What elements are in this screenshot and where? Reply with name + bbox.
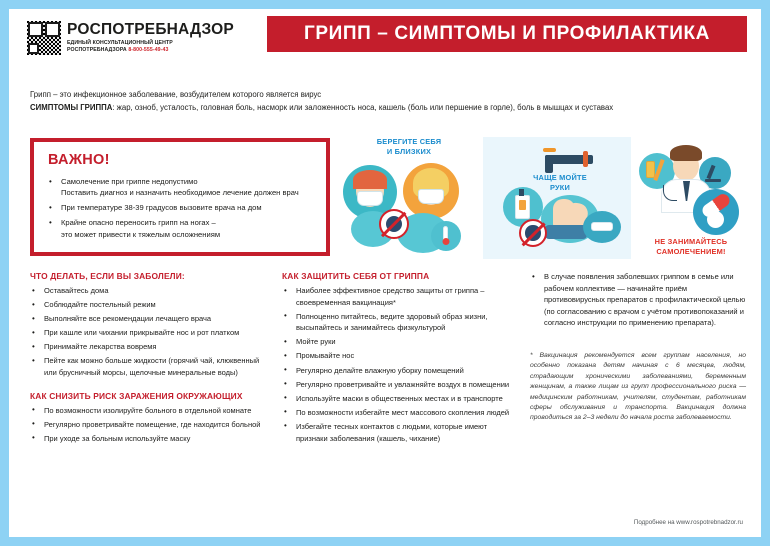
list-item: По возможности избегайте мест массового … <box>282 407 520 419</box>
no-virus-icon <box>519 219 547 247</box>
list-item: Крайне опасно переносить грипп на ногах … <box>48 217 314 240</box>
section-title-reduce-risk: КАК СНИЗИТЬ РИСК ЗАРАЖЕНИЯ ОКРУЖАЮЩИХ <box>30 391 270 401</box>
list-item: Полноценно питайтесь, ведите здоровый об… <box>282 311 520 334</box>
section-title-how-to-protect: КАК ЗАЩИТИТЬ СЕБЯ ОТ ГРИППА <box>282 271 520 281</box>
no-virus-icon <box>379 209 409 239</box>
how-to-protect-list: Наиболее эффективное средство защиты от … <box>282 285 520 444</box>
bottle-label <box>519 200 526 210</box>
list-item: Промывайте нос <box>282 350 520 362</box>
important-heading: ВАЖНО! <box>48 152 314 168</box>
column-how-to-protect: КАК ЗАЩИТИТЬ СЕБЯ ОТ ГРИППА Наиболее эфф… <box>282 271 520 456</box>
illustration-protect-yourself: БЕРЕГИТЕ СЕБЯИ БЛИЗКИХ <box>339 137 479 259</box>
list-item: Соблюдайте постельный режим <box>30 299 270 311</box>
list-item: Оставайтесь дома <box>30 285 270 297</box>
important-item-text: Самолечение при гриппе недопустимоПостав… <box>61 177 299 197</box>
faucet-handle <box>583 151 588 167</box>
list-item: Наиболее эффективное средство защиты от … <box>282 285 520 308</box>
face-mask-left <box>357 191 383 206</box>
panel-c-caption: НЕ ЗАНИМАЙТЕСЬСАМОЛЕЧЕНИЕМ! <box>633 237 749 256</box>
header: РОСПОТРЕБНАДЗОР ЕДИНЫЙ КОНСУЛЬТАЦИОННЫЙ … <box>9 9 761 71</box>
list-item: Пейте как можно больше жидкости (горячий… <box>30 355 270 378</box>
list-item: Используйте маски в общественных местах … <box>282 393 520 405</box>
important-box: ВАЖНО! Самолечение при гриппе недопустим… <box>30 138 330 256</box>
page-title: ГРИПП – СИМПТОМЫ И ПРОФИЛАКТИКА <box>304 23 710 45</box>
what-to-do-list: Оставайтесь дома Соблюдайте постельный р… <box>30 285 270 379</box>
important-item-text: Крайне опасно переносить грипп на ногах … <box>61 218 220 238</box>
intro-text: Грипп – это инфекционное заболевание, во… <box>30 88 745 114</box>
panel-a-caption: БЕРЕГИТЕ СЕБЯИ БЛИЗКИХ <box>339 137 479 156</box>
list-item: Регулярно проветривайте и увлажняйте воз… <box>282 379 520 391</box>
intro-line-2: СИМПТОМЫ ГРИППА: жар, озноб, усталость, … <box>30 101 745 114</box>
column-antiviral-advice: В случае появления заболевших гриппом в … <box>530 271 746 424</box>
list-item: Избегайте тесных контактов с людьми, кот… <box>282 421 520 444</box>
symptoms-label: СИМПТОМЫ ГРИППА <box>30 103 112 112</box>
antiviral-list: В случае появления заболевших гриппом в … <box>530 271 746 329</box>
title-banner: ГРИПП – СИМПТОМЫ И ПРОФИЛАКТИКА <box>267 16 747 52</box>
doctor-hair <box>670 145 702 161</box>
list-item: При уходе за больным используйте маску <box>30 433 270 445</box>
intro-line-1: Грипп – это инфекционное заболевание, во… <box>30 88 745 101</box>
column-what-to-do: ЧТО ДЕЛАТЬ, ЕСЛИ ВЫ ЗАБОЛЕЛИ: Оставайтес… <box>30 271 270 456</box>
list-item: Регулярно делайте влажную уборку помещен… <box>282 365 520 377</box>
list-item: Самолечение при гриппе недопустимоПостав… <box>48 176 314 199</box>
section-title-what-to-do: ЧТО ДЕЛАТЬ, ЕСЛИ ВЫ ЗАБОЛЕЛИ: <box>30 271 270 281</box>
list-item: Мойте руки <box>282 336 520 348</box>
logo-text: РОСПОТРЕБНАДЗОР ЕДИНЫЙ КОНСУЛЬТАЦИОННЫЙ … <box>67 21 234 54</box>
reduce-risk-list: По возможности изолируйте больного в отд… <box>30 405 270 445</box>
important-item-text: При температуре 38-39 градусов вызовите … <box>61 203 262 212</box>
tablet-icon <box>707 211 724 228</box>
illustration-wash-hands: ЧАЩЕ МОЙТЕРУКИ <box>483 137 631 259</box>
list-item: В случае появления заболевших гриппом в … <box>530 271 746 329</box>
bottle-pump <box>519 189 524 196</box>
vaccination-footnote: * Вакцинация рекомендуется всем группам … <box>530 351 746 424</box>
important-list: Самолечение при гриппе недопустимоПостав… <box>48 176 314 240</box>
list-item: При температуре 38-39 градусов вызовите … <box>48 202 314 213</box>
list-item: Выполняйте все рекомендации лечащего вра… <box>30 313 270 325</box>
sleeve <box>545 225 587 239</box>
symptoms-list: : жар, озноб, усталость, головная боль, … <box>112 103 613 112</box>
brand-subtitle-line1: ЕДИНЫЙ КОНСУЛЬТАЦИОННЫЙ ЦЕНТР <box>67 40 173 46</box>
brand-subtitle: ЕДИНЫЙ КОНСУЛЬТАЦИОННЫЙ ЦЕНТР РОСПОТРЕБН… <box>67 40 234 54</box>
soap-bar-icon <box>591 222 613 231</box>
footer-website-note: Подробнее на www.rospotrebnadzor.ru <box>634 519 743 526</box>
logo-block: РОСПОТРЕБНАДЗОР ЕДИНЫЙ КОНСУЛЬТАЦИОННЫЙ … <box>27 21 234 55</box>
faucet-spout <box>545 155 553 173</box>
microscope-base <box>705 179 721 182</box>
list-item: При кашле или чихании прикрывайте нос и … <box>30 327 270 339</box>
illustration-no-self-medication: НЕ ЗАНИМАЙТЕСЬСАМОЛЕЧЕНИЕМ! <box>633 137 749 259</box>
qr-code-icon <box>27 21 61 55</box>
faucet-knob <box>543 148 556 152</box>
list-item: Регулярно проветривайте помещение, где н… <box>30 419 270 431</box>
list-item: Принимайте лекарства вовремя <box>30 341 270 353</box>
thermometer-icon <box>443 226 448 243</box>
brand-name: РОСПОТРЕБНАДЗОР <box>67 22 234 38</box>
hotline-phone: 8-800-555-49-43 <box>128 47 168 53</box>
hair-left <box>353 170 387 189</box>
face-mask-right <box>418 189 444 204</box>
poster-canvas: РОСПОТРЕБНАДЗОР ЕДИНЫЙ КОНСУЛЬТАЦИОННЫЙ … <box>9 9 761 537</box>
brand-subtitle-line2: РОСПОТРЕБНАДЗОРА <box>67 47 127 53</box>
list-item: По возможности изолируйте больного в отд… <box>30 405 270 417</box>
